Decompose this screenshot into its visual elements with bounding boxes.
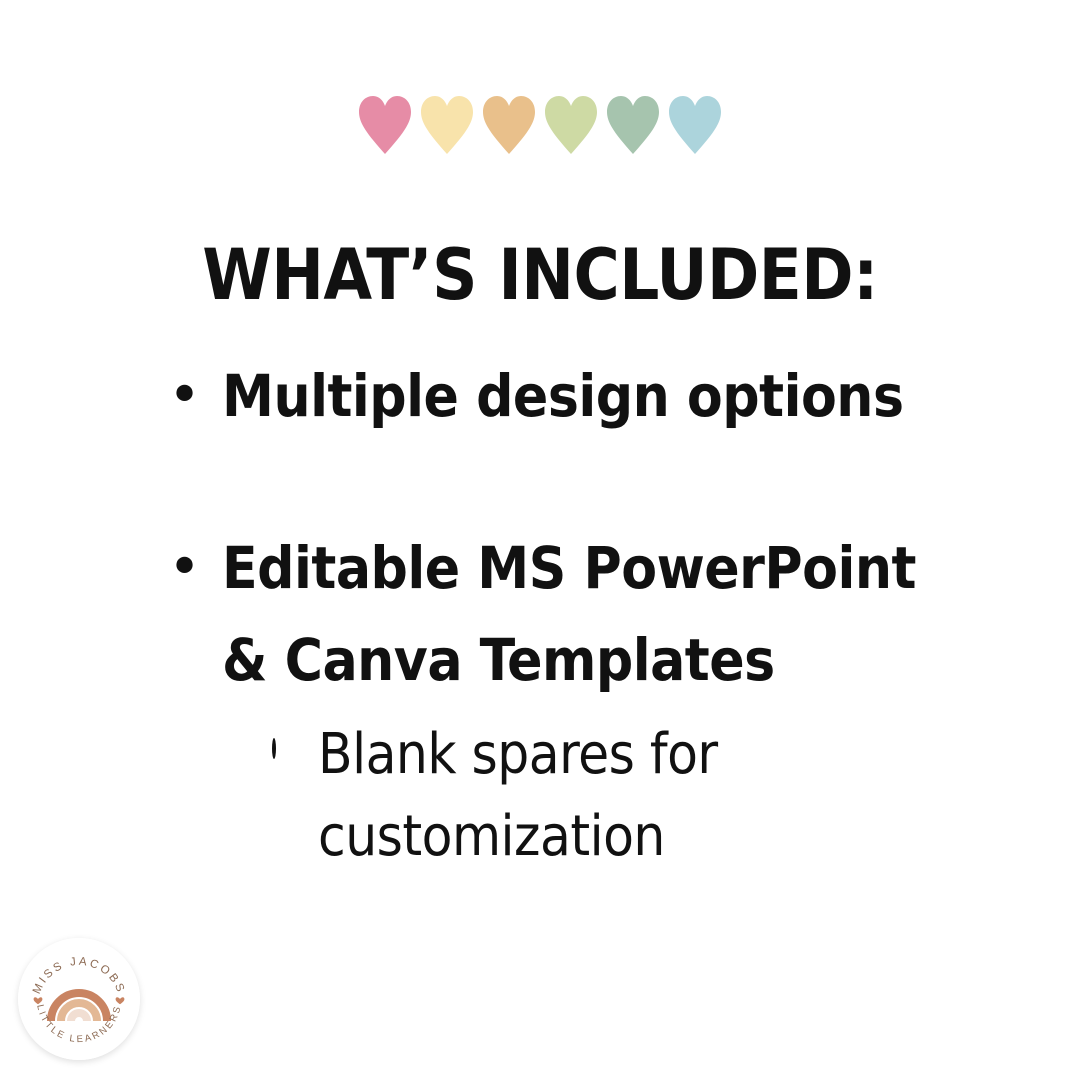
list-item-label: Editable MS PowerPoint & Canva Templates	[222, 522, 962, 706]
list-item: • Multiple design options	[0, 350, 1080, 442]
heart-pink-icon	[359, 96, 411, 154]
heart-blue-icon	[669, 96, 721, 154]
list-item: • Editable MS PowerPoint & Canva Templat…	[0, 522, 1080, 706]
heart-green-icon	[545, 96, 597, 154]
included-list: • Multiple design options • Editable MS …	[0, 350, 1080, 878]
sub-list-item: Blank spares for customization	[0, 714, 1080, 878]
bullet-circle-icon	[272, 740, 318, 758]
heart-orange-icon	[483, 96, 535, 154]
page-title: WHAT’S INCLUDED:	[0, 232, 1080, 318]
bullet-dot-icon: •	[168, 522, 222, 614]
miss-jacobs-little-learners-logo[interactable]: MISS JACOBS LITTLE LEARNERS	[18, 938, 140, 1060]
sub-list-item-label: Blank spares for customization	[318, 714, 838, 878]
pastel-hearts-divider	[0, 96, 1080, 156]
logo-graphic: MISS JACOBS LITTLE LEARNERS	[18, 938, 140, 1060]
list-spacer	[0, 450, 1080, 522]
list-item-label: Multiple design options	[222, 350, 904, 442]
heart-yellow-icon	[421, 96, 473, 154]
heart-sage-icon	[607, 96, 659, 154]
bullet-dot-icon: •	[168, 350, 222, 442]
